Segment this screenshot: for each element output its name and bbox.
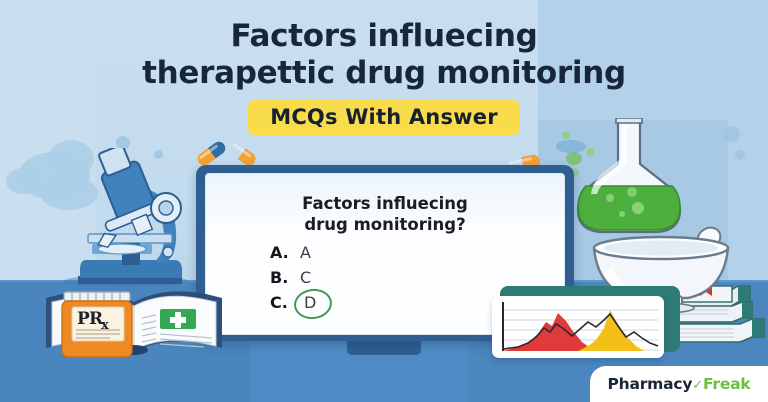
option-c[interactable]: C. D bbox=[270, 292, 316, 313]
option-b-value: C bbox=[300, 268, 311, 287]
option-a-value: A bbox=[300, 243, 311, 262]
question-line-2: drug monitoring? bbox=[206, 215, 564, 236]
whiteboard-stand bbox=[347, 341, 421, 355]
pharmacy-freak-logo[interactable]: Pharmacy✓Freak bbox=[590, 366, 768, 402]
correct-answer-circle-icon bbox=[292, 287, 333, 321]
option-c-key: C. bbox=[270, 293, 294, 312]
logo-part-2: Freak bbox=[703, 375, 751, 393]
question-line-1: Factors influecing bbox=[206, 194, 564, 215]
logo-text: Pharmacy✓Freak bbox=[607, 375, 750, 393]
option-b[interactable]: B. C bbox=[270, 267, 316, 288]
badge-wrapper: MCQs With Answer bbox=[0, 100, 768, 135]
option-a[interactable]: A. A bbox=[270, 242, 316, 263]
question-text: Factors influecing drug monitoring? bbox=[206, 194, 564, 235]
mcq-badge: MCQs With Answer bbox=[248, 100, 520, 135]
background-blob-9 bbox=[735, 150, 745, 160]
svg-text:x: x bbox=[101, 318, 109, 333]
leaf-icon: ✓ bbox=[692, 378, 703, 393]
background-blob-4 bbox=[6, 168, 40, 194]
poster-header: Factors influecing therapettic drug moni… bbox=[0, 20, 768, 135]
title-line-2: therapettic drug monitoring bbox=[0, 57, 768, 90]
open-book-icon: P R x bbox=[38, 282, 234, 360]
microscope-icon bbox=[48, 148, 198, 288]
title-line-1: Factors influecing bbox=[0, 20, 768, 53]
poster-canvas: Factors influecing therapettic drug moni… bbox=[0, 0, 768, 402]
option-a-key: A. bbox=[270, 243, 294, 262]
logo-part-1: Pharmacy bbox=[607, 375, 692, 393]
analytics-chart-card[interactable] bbox=[492, 296, 664, 358]
option-b-key: B. bbox=[270, 268, 294, 287]
answer-options-list: A. A B. C C. D bbox=[270, 242, 316, 317]
